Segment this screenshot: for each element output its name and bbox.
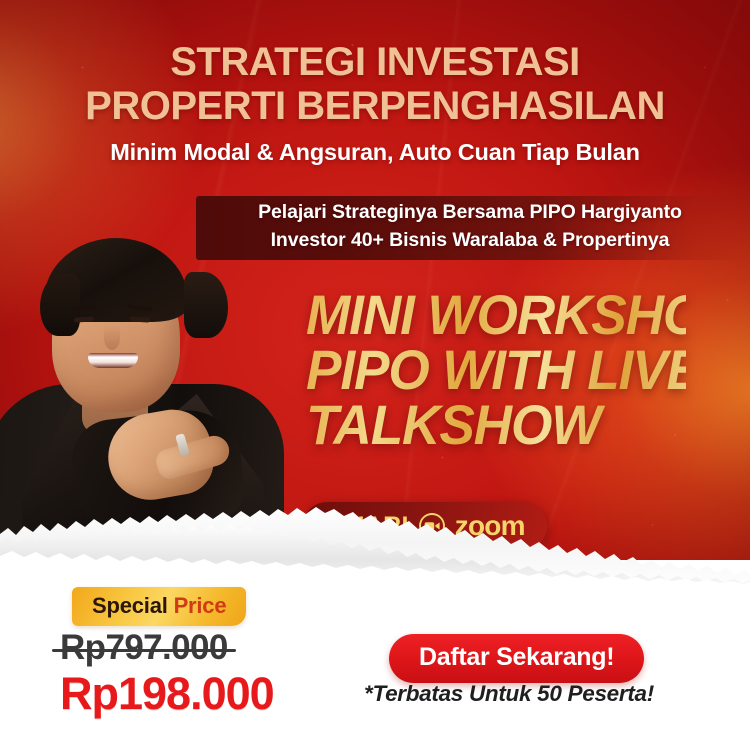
- gold-title-block: MINI WORKSHOP PIPO WITH LIVE TALKSHOW: [306, 289, 706, 454]
- register-button-label: Daftar Sekarang!: [419, 643, 614, 671]
- register-button[interactable]: Daftar Sekarang!: [389, 634, 644, 683]
- headline-line-1: STRATEGI INVESTASI: [0, 42, 750, 83]
- gold-title-line-3: TALKSHOW: [306, 399, 686, 451]
- headline-subline: Minim Modal & Angsuran, Auto Cuan Tiap B…: [0, 139, 750, 166]
- photo-hair-left: [40, 274, 80, 336]
- promo-banner: STRATEGI INVESTASI PROPERTI BERPENGHASIL…: [0, 0, 750, 750]
- presenter-block: Pelajari Strateginya Bersama PIPO Hargiy…: [210, 199, 730, 254]
- special-price-badge: Special Price: [72, 587, 246, 626]
- seat-limit-note: *Terbatas Untuk 50 Peserta!: [364, 681, 654, 707]
- new-price: Rp198.000: [60, 668, 274, 720]
- video-camera-icon: [418, 512, 446, 540]
- headline-block: STRATEGI INVESTASI PROPERTI BERPENGHASIL…: [0, 42, 750, 166]
- photo-smile: [88, 353, 138, 368]
- special-price-label-a: Special: [92, 593, 174, 618]
- gold-title-line-1: MINI WORKSHOP: [306, 289, 686, 341]
- photo-nose: [104, 326, 120, 350]
- special-price-label-b: Price: [174, 593, 227, 618]
- presenter-line-1: Pelajari Strateginya Bersama PIPO Hargiy…: [210, 199, 730, 227]
- gold-title-line-2: PIPO WITH LIVE: [306, 344, 686, 396]
- old-price: Rp797.000: [60, 628, 228, 668]
- platform-label: zoom: [455, 510, 525, 542]
- headline-line-2: PROPERTI BERPENGHASILAN: [0, 86, 750, 127]
- duration-platform-badge: 3 HARI zoom: [303, 502, 547, 550]
- duration-label: 3 HARI: [325, 512, 409, 541]
- presenter-line-2: Investor 40+ Bisnis Waralaba & Propertin…: [210, 227, 730, 255]
- photo-hair-right: [184, 272, 228, 338]
